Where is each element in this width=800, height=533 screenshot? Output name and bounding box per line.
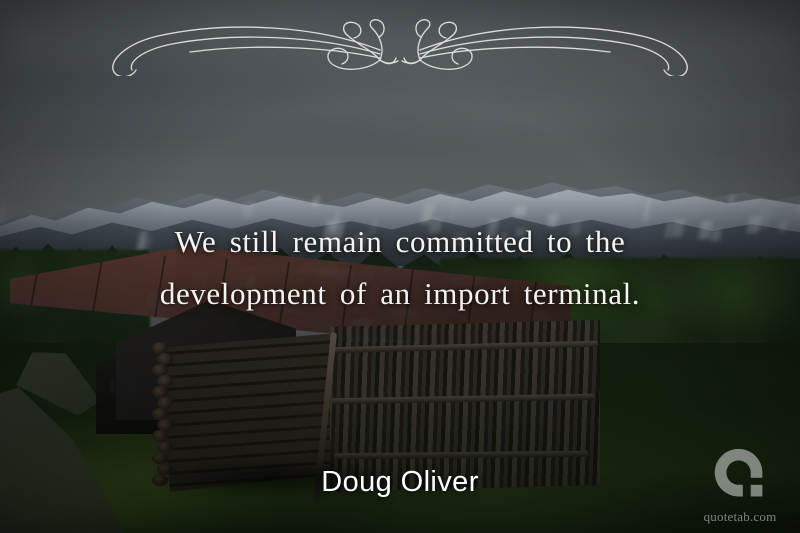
quote-author: Doug Oliver: [0, 466, 800, 499]
quote-line-2: development of an import terminal.: [64, 268, 736, 320]
quotetab-q-logo-icon: [694, 447, 786, 508]
quote-line-1: We still remain committed to the: [64, 216, 736, 268]
decorative-flourish-icon: [80, 14, 720, 76]
quote-block: We still remain committed to the develop…: [0, 216, 800, 320]
watermark[interactable]: quotetab.com: [694, 447, 786, 525]
watermark-text: quotetab.com: [694, 509, 786, 525]
quote-card: We still remain committed to the develop…: [0, 0, 800, 533]
